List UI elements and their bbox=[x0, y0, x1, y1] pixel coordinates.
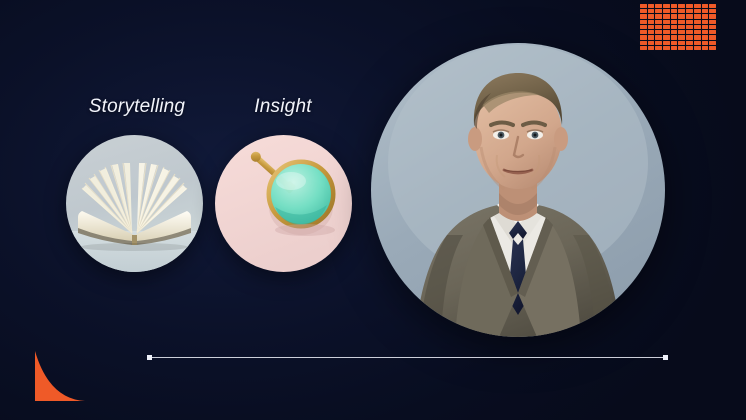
dot-grid-cell bbox=[640, 30, 647, 34]
dot-grid-cell bbox=[671, 4, 678, 8]
circle-tile-book[interactable] bbox=[66, 135, 203, 272]
orange-corner-flourish-icon bbox=[33, 351, 85, 403]
dot-grid-cell bbox=[694, 9, 701, 13]
dot-grid-cell bbox=[686, 30, 693, 34]
dot-grid-cell bbox=[686, 25, 693, 29]
dot-grid-cell bbox=[709, 20, 716, 24]
dot-grid-cell bbox=[648, 25, 655, 29]
dot-grid-cell bbox=[640, 41, 647, 45]
open-book-photo-icon bbox=[66, 135, 203, 272]
dot-grid-cell bbox=[655, 20, 662, 24]
dot-grid-cell bbox=[671, 9, 678, 13]
dot-grid-cell bbox=[663, 25, 670, 29]
dot-grid-cell bbox=[702, 25, 709, 29]
dot-grid-cell bbox=[648, 30, 655, 34]
dot-grid-cell bbox=[671, 20, 678, 24]
dot-grid-cell bbox=[678, 41, 685, 45]
dot-grid-cell bbox=[648, 20, 655, 24]
dot-grid-cell bbox=[709, 25, 716, 29]
timeline-rule bbox=[147, 355, 668, 360]
dot-grid-cell bbox=[648, 41, 655, 45]
dot-grid-cell bbox=[709, 9, 716, 13]
dot-grid-cell bbox=[640, 9, 647, 13]
dot-grid-cell bbox=[694, 30, 701, 34]
dot-grid-cell bbox=[640, 14, 647, 18]
dot-grid-cell bbox=[648, 4, 655, 8]
dot-grid-cell bbox=[694, 41, 701, 45]
dot-grid-cell bbox=[678, 25, 685, 29]
dot-grid-cell bbox=[694, 4, 701, 8]
dot-grid-cell bbox=[663, 46, 670, 50]
dot-grid-cell bbox=[709, 30, 716, 34]
dot-grid-cell bbox=[709, 41, 716, 45]
dot-grid-cell bbox=[678, 4, 685, 8]
dot-grid-cell bbox=[686, 4, 693, 8]
dot-grid-cell bbox=[678, 20, 685, 24]
dot-grid-cell bbox=[671, 14, 678, 18]
dot-grid-cell bbox=[686, 46, 693, 50]
dot-grid-cell bbox=[671, 25, 678, 29]
dot-grid-cell bbox=[655, 41, 662, 45]
dot-grid-cell bbox=[671, 46, 678, 50]
circle-tile-magnifier[interactable] bbox=[215, 135, 352, 272]
dot-grid-cell bbox=[640, 4, 647, 8]
speaker-portrait-photo-icon bbox=[371, 43, 665, 337]
dot-grid-cell bbox=[663, 30, 670, 34]
dot-grid-cell bbox=[702, 9, 709, 13]
dot-grid-cell bbox=[663, 4, 670, 8]
dot-grid-cell bbox=[648, 46, 655, 50]
dot-grid-cell bbox=[678, 14, 685, 18]
dot-grid-cell bbox=[655, 35, 662, 39]
dot-grid-cell bbox=[663, 14, 670, 18]
dot-grid-cell bbox=[694, 14, 701, 18]
dot-grid-cell bbox=[702, 20, 709, 24]
dot-grid-cell bbox=[663, 35, 670, 39]
circle-tile-portrait[interactable] bbox=[371, 43, 665, 337]
dot-grid-cell bbox=[702, 30, 709, 34]
dot-grid-cell bbox=[640, 25, 647, 29]
dot-grid-cell bbox=[686, 41, 693, 45]
dot-grid-cell bbox=[663, 41, 670, 45]
dot-grid-cell bbox=[686, 20, 693, 24]
dot-grid-cell bbox=[663, 9, 670, 13]
dot-grid-cell bbox=[655, 30, 662, 34]
dot-grid-cell bbox=[694, 35, 701, 39]
dot-grid-cell bbox=[709, 14, 716, 18]
dot-grid-cell bbox=[640, 35, 647, 39]
dot-grid-cell bbox=[686, 9, 693, 13]
dot-grid-cell bbox=[655, 9, 662, 13]
dot-grid-cell bbox=[709, 46, 716, 50]
dot-grid-cell bbox=[702, 14, 709, 18]
dot-grid-cell bbox=[694, 46, 701, 50]
dot-grid-cell bbox=[671, 41, 678, 45]
tile-label-storytelling: Storytelling bbox=[89, 96, 185, 118]
dot-grid-cell bbox=[648, 9, 655, 13]
dot-grid-cell bbox=[709, 4, 716, 8]
dot-grid-cell bbox=[655, 46, 662, 50]
dot-grid-cell bbox=[678, 30, 685, 34]
timeline-node-end[interactable] bbox=[663, 355, 668, 360]
dot-grid-cell bbox=[678, 35, 685, 39]
timeline-line bbox=[152, 357, 663, 358]
orange-dot-grid-icon bbox=[640, 4, 716, 50]
dot-grid-cell bbox=[702, 35, 709, 39]
dot-grid-cell bbox=[655, 4, 662, 8]
dot-grid-cell bbox=[663, 20, 670, 24]
dot-grid-cell bbox=[702, 41, 709, 45]
dot-grid-cell bbox=[678, 9, 685, 13]
dot-grid-cell bbox=[709, 35, 716, 39]
dot-grid-cell bbox=[702, 4, 709, 8]
dot-grid-cell bbox=[648, 35, 655, 39]
dot-grid-cell bbox=[648, 14, 655, 18]
dot-grid-cell bbox=[702, 46, 709, 50]
dot-grid-cell bbox=[640, 20, 647, 24]
dot-grid-cell bbox=[694, 25, 701, 29]
dot-grid-cell bbox=[686, 14, 693, 18]
dot-grid-cell bbox=[640, 46, 647, 50]
dot-grid-cell bbox=[678, 46, 685, 50]
dot-grid-cell bbox=[655, 25, 662, 29]
dot-grid-cell bbox=[686, 35, 693, 39]
slide-canvas: Storytelling Insight bbox=[0, 0, 746, 420]
tile-label-insight: Insight bbox=[254, 96, 311, 118]
dot-grid-cell bbox=[671, 35, 678, 39]
magnifying-glass-photo-icon bbox=[215, 135, 352, 272]
dot-grid-cell bbox=[655, 14, 662, 18]
dot-grid-cell bbox=[671, 30, 678, 34]
dot-grid-cell bbox=[694, 20, 701, 24]
